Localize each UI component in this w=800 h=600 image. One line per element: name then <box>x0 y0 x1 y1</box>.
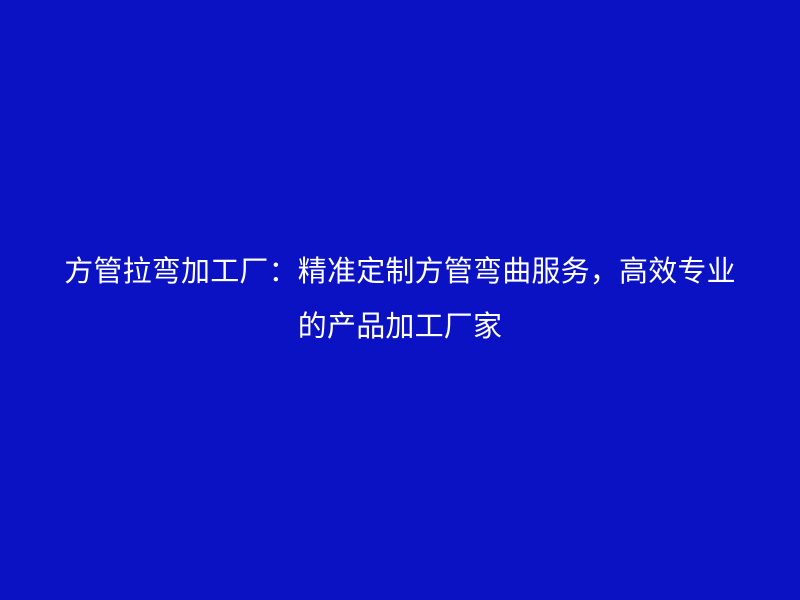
page-title: 方管拉弯加工厂：精准定制方管弯曲服务，高效专业的产品加工厂家 <box>55 244 745 354</box>
banner-background: 方管拉弯加工厂：精准定制方管弯曲服务，高效专业的产品加工厂家 <box>0 0 800 600</box>
headline-container: 方管拉弯加工厂：精准定制方管弯曲服务，高效专业的产品加工厂家 <box>55 244 745 354</box>
